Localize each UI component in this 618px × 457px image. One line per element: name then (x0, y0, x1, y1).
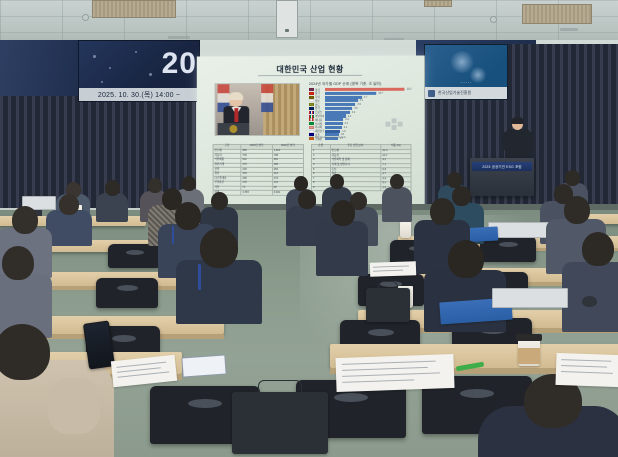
chart-bar-row: 프랑스3.2 (309, 111, 412, 114)
attendee-head (0, 324, 50, 380)
display-headline-number: 20 (162, 47, 197, 81)
chart-bar-value: 29.2 (407, 88, 412, 91)
chart-source-note: 자료: IMF World Economic Outlook (309, 135, 346, 139)
attendee-head (200, 228, 238, 268)
chart-bar (325, 111, 350, 114)
attendee-lanyard (172, 226, 174, 244)
chart-bar (325, 92, 376, 95)
country-flag-icon (309, 115, 314, 118)
photo-speaker-hair (228, 92, 243, 100)
chart-bar (325, 95, 362, 98)
chart-bar-value: 2.1 (344, 126, 347, 129)
chart-bar (325, 122, 343, 125)
attendee-head (430, 198, 455, 225)
attendee-head (330, 174, 344, 189)
attendee-head (390, 174, 404, 189)
sprinkler-left (82, 14, 89, 21)
table-cell: 3,650 (241, 191, 272, 196)
ceiling-vent-far-right (424, 0, 452, 7)
presenter-hair (511, 117, 524, 124)
attendee-r5-7 (382, 174, 412, 222)
coffee-cup-row1 (518, 338, 540, 366)
display-logo-bar: 한국산업기술진흥원 (425, 87, 507, 99)
ceiling-projector (276, 0, 298, 38)
attendee-head (298, 190, 316, 209)
cup-sleeve (518, 348, 540, 364)
attendee-body (96, 193, 128, 222)
chart-bar (325, 103, 355, 106)
attendee-head (12, 206, 38, 234)
display-date-bar: 2025. 10. 30.(목) 14:00 ~ (79, 88, 199, 101)
slide-title-underline (258, 75, 362, 76)
coffee-cup-row4 (400, 222, 411, 238)
attendee-head (582, 232, 614, 266)
attendee-arm (48, 378, 100, 434)
paper-line (373, 265, 409, 267)
chart-bar-value: 4.1 (360, 99, 363, 102)
chart-bar-row: 영국3.6 (309, 107, 412, 110)
attendee-r5-2 (96, 180, 128, 222)
attendee-head (448, 240, 484, 278)
attendee-head (105, 180, 120, 196)
chart-bar (325, 88, 405, 91)
chart-bar-value: 2.4 (348, 114, 351, 117)
bag-row2-left (366, 288, 410, 322)
attendee-r4-1 (46, 194, 92, 246)
country-flag-icon (309, 122, 314, 125)
chart-bar (325, 107, 352, 110)
photo-flag-right (261, 84, 273, 112)
country-flag-icon (309, 88, 314, 91)
attendee-head (294, 176, 308, 191)
chart-bar-value: 3.2 (352, 111, 355, 114)
chart-bar (325, 130, 340, 133)
chart-bar-value: 18.7 (378, 92, 383, 95)
bag-handle (378, 281, 398, 289)
display-glow-2 (469, 67, 487, 83)
chair-handle-slot (112, 335, 136, 342)
paper-line (342, 361, 436, 365)
chart-bar-value: 3.9 (357, 103, 360, 106)
attendee-head (175, 202, 201, 230)
seminar-room-photo: 20 2025. 10. 30.(목) 14:00 ~ ∙∙∙∙∙∙ 한국산업기… (0, 0, 618, 457)
paper-line (117, 371, 169, 377)
right-wall-display[interactable]: ∙∙∙∙∙∙ 한국산업기술진흥원 (424, 44, 508, 100)
chair-handle-slot (126, 250, 144, 255)
chart-bar-value: 2.2 (345, 118, 348, 121)
chart-bar-value: 2.2 (345, 122, 348, 125)
ceiling-vent-right (522, 4, 592, 24)
attendee-head (2, 246, 34, 280)
paper-line (373, 270, 403, 272)
chair-row3-a (96, 278, 158, 308)
attendee-body (176, 260, 262, 324)
left-wall-display[interactable]: 20 2025. 10. 30.(목) 14:00 ~ (78, 40, 200, 102)
paper-line (342, 367, 428, 371)
country-flag-icon (309, 92, 314, 95)
chart-bar-row: 인도3.9 (309, 103, 412, 106)
country-flag-icon (309, 111, 314, 114)
projector-indicator (285, 29, 289, 32)
attendee-lanyard (198, 264, 201, 290)
institution-logo-mark (428, 90, 435, 97)
institution-logo-text: 한국산업기술진흥원 (438, 90, 471, 96)
paper-line (117, 367, 161, 372)
country-flag-icon (309, 103, 314, 106)
attendee-head (331, 200, 355, 226)
chart-bar-row: 일본4.1 (309, 99, 412, 102)
slide-photo (215, 83, 300, 136)
chart-bar (325, 114, 346, 117)
chair-handle-slot (117, 285, 138, 291)
country-flag-icon (309, 96, 314, 99)
chair-handle-slot (334, 393, 368, 402)
bag-handle (258, 380, 302, 394)
paper-line (561, 371, 613, 374)
chart-title: 2024년 국가별 GDP 순위 (명목 기준, 조 달러) (309, 82, 412, 87)
smartphone-screen (84, 322, 114, 369)
slide-bar-chart: 2024년 국가별 GDP 순위 (명목 기준, 조 달러) 미국29.2중국1… (309, 82, 412, 138)
attendee-r3-3 (316, 200, 368, 276)
chart-bar-value: 4.7 (364, 95, 367, 98)
paper-line (561, 359, 611, 361)
chair-handle-slot (188, 399, 222, 408)
name-card-row1 (181, 354, 226, 377)
paper-line (342, 372, 440, 376)
bag-foreground (232, 392, 328, 454)
chair-handle-slot (368, 329, 394, 336)
ceiling-light-slot-1 (168, 36, 190, 39)
attendee-head (564, 196, 590, 224)
podium-banner-text: 2025 공공기관 ESG 포럼 (482, 164, 521, 169)
chart-bar-row: 독일4.7 (309, 95, 412, 98)
photo-speaker-tie (234, 108, 238, 122)
photo-podium-seal (229, 125, 237, 133)
chart-cloud-watermark (383, 116, 405, 134)
attendee-body (382, 187, 412, 222)
presenter (505, 118, 531, 162)
attendee-body (316, 221, 368, 276)
slide-title: 대한민국 산업 현황 (197, 64, 425, 76)
chart-bar-value: 1.9 (342, 130, 345, 133)
country-flag-icon (309, 99, 314, 102)
handout-row1-right-a (335, 354, 454, 392)
attendee-body (46, 210, 92, 246)
paper-line (342, 379, 414, 382)
paper-line (561, 365, 607, 367)
cup-lid (516, 334, 542, 341)
country-flag-icon (309, 107, 314, 110)
attendee-head (59, 194, 79, 215)
presenter-arm-right (529, 132, 534, 150)
chart-bar (325, 99, 358, 102)
sprinkler-right (490, 16, 497, 23)
country-flag-icon (309, 118, 314, 121)
country-flag-icon (309, 130, 314, 133)
wall-panel-blue-left (0, 40, 80, 100)
attendee-foreground-right (478, 392, 618, 457)
ceiling-light-slot-3 (560, 28, 578, 31)
presenter-arm-left (502, 132, 507, 150)
mouse-row2 (582, 296, 597, 307)
handout-row1-right-b (555, 353, 618, 387)
chart-bar (325, 118, 343, 121)
country-flag-icon (309, 126, 314, 129)
papers-row3 (370, 261, 416, 277)
laptop-row2 (492, 288, 568, 308)
ceiling-vent-left (92, 0, 176, 18)
podium-banner: 2025 공공기관 ESG 포럼 (472, 162, 532, 171)
attendee-r2-1 (176, 228, 262, 324)
chart-bar (325, 126, 342, 129)
chair-row4-a (108, 244, 160, 268)
attendee-r2-4 (562, 232, 618, 332)
chart-bar-value: 3.6 (354, 107, 357, 110)
display-overlay-text: ∙∙∙∙∙∙ (460, 80, 471, 86)
